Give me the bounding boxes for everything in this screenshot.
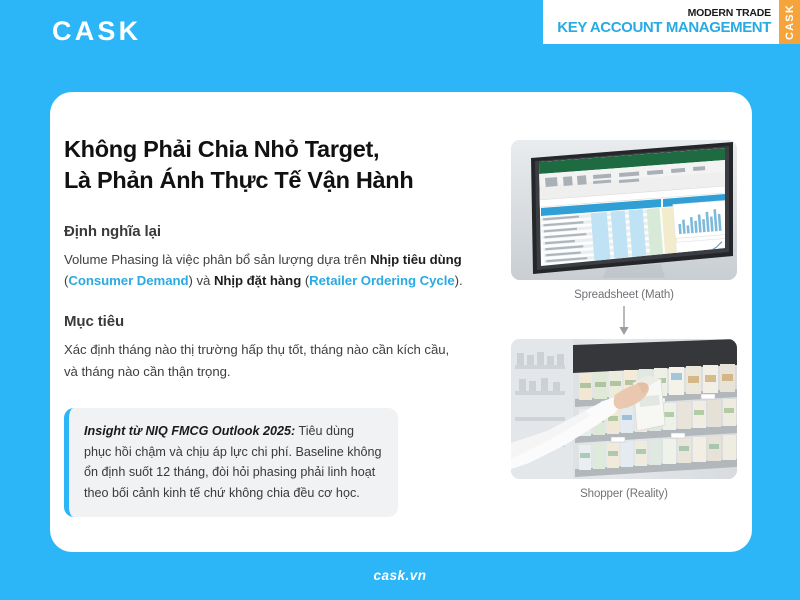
definition-bold-consumer: Nhịp tiêu dùng — [370, 252, 462, 267]
site-footer: cask.vn — [0, 568, 800, 583]
objective-heading: Mục tiêu — [64, 313, 464, 330]
left-column: Không Phải Chia Nhỏ Target, Là Phản Ánh … — [64, 134, 464, 517]
spreadsheet-caption: Spreadsheet (Math) — [574, 289, 674, 301]
definition-paren-close-2: ). — [455, 273, 463, 288]
content-card: Không Phải Chia Nhỏ Target, Là Phản Ánh … — [50, 92, 752, 552]
definition-accent-consumer-demand: Consumer Demand — [68, 273, 188, 288]
objective-body: Xác định tháng nào thị trường hấp thụ tố… — [64, 339, 464, 382]
definition-paren-open-2: ( — [301, 273, 309, 288]
supermarket-shelf-icon — [511, 339, 737, 479]
course-badge-text: MODERN TRADE KEY ACCOUNT MANAGEMENT — [543, 0, 779, 44]
arrow-down-icon — [616, 306, 632, 336]
definition-accent-retailer-ordering-cycle: Retailer Ordering Cycle — [309, 273, 454, 288]
insight-callout: Insight từ NIQ FMCG Outlook 2025: Tiêu d… — [64, 408, 398, 517]
shopper-caption: Shopper (Reality) — [580, 488, 668, 500]
insight-lead: Insight từ NIQ FMCG Outlook 2025: — [84, 424, 295, 438]
spreadsheet-image — [511, 140, 737, 280]
course-badge-tab: CASK — [779, 0, 800, 44]
course-badge-tab-label: CASK — [784, 4, 796, 40]
flow-arrow — [616, 306, 632, 336]
definition-block: Định nghĩa lại Volume Phasing là việc ph… — [64, 223, 464, 292]
shopper-image — [511, 339, 737, 479]
insight-text: Insight từ NIQ FMCG Outlook 2025: Tiêu d… — [84, 421, 382, 503]
right-column: Spreadsheet (Math) — [504, 140, 744, 500]
definition-text-lead: Volume Phasing là việc phân bổ sản lượng… — [64, 252, 370, 267]
slide-canvas: CASK MODERN TRADE KEY ACCOUNT MANAGEMENT… — [0, 0, 800, 600]
course-badge-line2: KEY ACCOUNT MANAGEMENT — [557, 19, 771, 36]
definition-body: Volume Phasing là việc phân bổ sản lượng… — [64, 249, 464, 292]
page-title-line2: Là Phản Ánh Thực Tế Vận Hành — [64, 167, 413, 193]
course-badge-line1: MODERN TRADE — [688, 7, 771, 19]
monitor-spreadsheet-icon — [511, 140, 737, 280]
objective-block: Mục tiêu Xác định tháng nào thị trường h… — [64, 313, 464, 382]
definition-connector: và — [196, 273, 213, 288]
brand-logo: CASK — [52, 18, 141, 45]
definition-bold-ordering: Nhịp đặt hàng — [214, 273, 301, 288]
page-title-line1: Không Phải Chia Nhỏ Target, — [64, 136, 379, 162]
definition-heading: Định nghĩa lại — [64, 223, 464, 240]
course-badge: MODERN TRADE KEY ACCOUNT MANAGEMENT CASK — [543, 0, 800, 44]
page-title: Không Phải Chia Nhỏ Target, Là Phản Ánh … — [64, 134, 464, 197]
